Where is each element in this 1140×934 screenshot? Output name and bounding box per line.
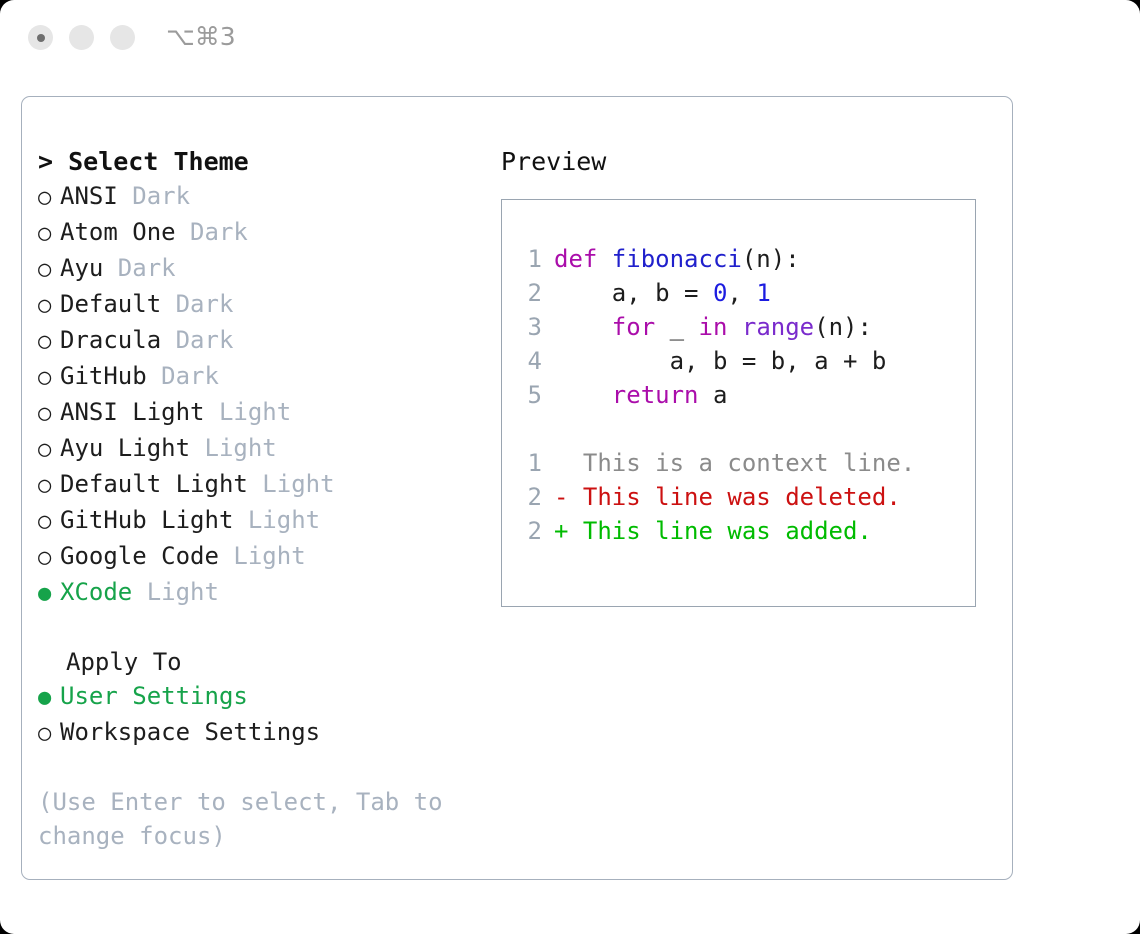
code-line: 2 a, b = 0, 1 <box>514 276 969 310</box>
theme-option-label: Ayu <box>60 254 103 282</box>
theme-option-ayu-light[interactable]: ○Ayu Light Light <box>38 431 498 467</box>
code-token: (n): <box>742 245 800 273</box>
theme-option-dracula[interactable]: ○Dracula Dark <box>38 323 498 359</box>
radio-unselected-icon: ○ <box>38 361 60 395</box>
theme-option-default-light[interactable]: ○Default Light Light <box>38 467 498 503</box>
apply-to-option-label: User Settings <box>60 682 248 710</box>
radio-unselected-icon: ○ <box>38 289 60 323</box>
preview-box: 1def fibonacci(n):2 a, b = 0, 13 for _ i… <box>501 199 976 607</box>
keyboard-hint-text: (Use Enter to select, Tab to change focu… <box>38 785 448 853</box>
code-token <box>554 313 612 341</box>
theme-variant-tag: Dark <box>118 182 190 210</box>
theme-option-label: Default <box>60 290 161 318</box>
code-token: return <box>612 381 699 409</box>
window-close-button[interactable] <box>28 25 53 50</box>
code-token: (n): <box>814 313 872 341</box>
code-token: in <box>699 313 728 341</box>
radio-unselected-icon: ○ <box>38 433 60 467</box>
code-line: 3 for _ in range(n): <box>514 310 969 344</box>
diff-line-text: This is a context line. <box>554 449 915 477</box>
theme-variant-tag: Dark <box>176 218 248 246</box>
theme-option-label: ANSI <box>60 182 118 210</box>
diff-line: 2+ This line was added. <box>514 514 969 548</box>
radio-unselected-icon: ○ <box>38 253 60 287</box>
line-number: 5 <box>514 378 542 412</box>
code-token: a <box>699 381 728 409</box>
code-token <box>727 313 741 341</box>
section-spacer <box>38 611 498 645</box>
radio-unselected-icon: ○ <box>38 397 60 431</box>
theme-option-label: Ayu Light <box>60 434 190 462</box>
code-token: def <box>554 245 612 273</box>
theme-option-ansi-light[interactable]: ○ANSI Light Light <box>38 395 498 431</box>
theme-option-google-code[interactable]: ○Google Code Light <box>38 539 498 575</box>
theme-option-label: Atom One <box>60 218 176 246</box>
window-minimize-button[interactable] <box>69 25 94 50</box>
code-token: fibonacci <box>612 245 742 273</box>
radio-unselected-icon: ○ <box>38 717 60 751</box>
apply-to-heading: Apply To <box>38 645 498 679</box>
theme-option-github-light[interactable]: ○GitHub Light Light <box>38 503 498 539</box>
apply-to-option-list: ●User Settings○Workspace Settings <box>38 679 498 751</box>
code-token <box>554 381 612 409</box>
theme-selection-column: > Select Theme ○ANSI Dark○Atom One Dark○… <box>38 145 498 853</box>
theme-option-default[interactable]: ○Default Dark <box>38 287 498 323</box>
code-line: 4 a, b = b, a + b <box>514 344 969 378</box>
code-token: 0 <box>713 279 727 307</box>
theme-variant-tag: Light <box>132 578 219 606</box>
theme-variant-tag: Light <box>205 398 292 426</box>
code-token: for <box>612 313 655 341</box>
line-number: 2 <box>514 276 542 310</box>
theme-variant-tag: Dark <box>103 254 175 282</box>
main-panel: > Select Theme ○ANSI Dark○Atom One Dark○… <box>21 96 1013 880</box>
theme-option-label: XCode <box>60 578 132 606</box>
apply-to-option-workspace-settings[interactable]: ○Workspace Settings <box>38 715 498 751</box>
traffic-lights <box>28 25 135 50</box>
theme-option-xcode[interactable]: ●XCode Light <box>38 575 498 611</box>
radio-unselected-icon: ○ <box>38 181 60 215</box>
diff-line-number: 2 <box>514 480 542 514</box>
theme-option-label: Dracula <box>60 326 161 354</box>
theme-option-list: ○ANSI Dark○Atom One Dark○Ayu Dark○Defaul… <box>38 179 498 611</box>
preview-heading: Preview <box>501 145 1001 179</box>
theme-option-label: Google Code <box>60 542 219 570</box>
select-theme-heading: > Select Theme <box>38 145 498 179</box>
diff-line-number: 2 <box>514 514 542 548</box>
theme-variant-tag: Light <box>219 542 306 570</box>
radio-unselected-icon: ○ <box>38 325 60 359</box>
theme-variant-tag: Light <box>248 470 335 498</box>
code-sample: 1def fibonacci(n):2 a, b = 0, 13 for _ i… <box>514 242 969 548</box>
active-indicator-dot <box>37 34 45 42</box>
code-block: 1def fibonacci(n):2 a, b = 0, 13 for _ i… <box>514 242 969 412</box>
diff-block: 1 This is a context line.2- This line wa… <box>514 446 969 548</box>
line-number: 4 <box>514 344 542 378</box>
code-token: _ <box>655 313 698 341</box>
code-line: 5 return a <box>514 378 969 412</box>
code-token: a, b = <box>554 279 713 307</box>
code-line: 1def fibonacci(n): <box>514 242 969 276</box>
title-bar: ⌥⌘3 <box>0 0 1140 78</box>
radio-unselected-icon: ○ <box>38 469 60 503</box>
radio-unselected-icon: ○ <box>38 217 60 251</box>
line-number: 3 <box>514 310 542 344</box>
diff-line: 2- This line was deleted. <box>514 480 969 514</box>
window-title: ⌥⌘3 <box>166 22 236 51</box>
theme-option-github[interactable]: ○GitHub Dark <box>38 359 498 395</box>
code-token: range <box>742 313 814 341</box>
diff-line-text: - This line was deleted. <box>554 483 901 511</box>
theme-option-label: Default Light <box>60 470 248 498</box>
preview-column: Preview 1def fibonacci(n):2 a, b = 0, 13… <box>501 145 1001 607</box>
radio-selected-icon: ● <box>38 681 60 715</box>
diff-line-text: + This line was added. <box>554 517 872 545</box>
theme-option-label: GitHub <box>60 362 147 390</box>
code-token: 1 <box>756 279 770 307</box>
apply-to-option-label: Workspace Settings <box>60 718 320 746</box>
theme-option-ansi[interactable]: ○ANSI Dark <box>38 179 498 215</box>
code-token: a, b = b, a + b <box>554 347 886 375</box>
diff-line-number: 1 <box>514 446 542 480</box>
code-diff-spacer <box>514 412 969 446</box>
window-maximize-button[interactable] <box>110 25 135 50</box>
radio-unselected-icon: ○ <box>38 505 60 539</box>
theme-variant-tag: Light <box>190 434 277 462</box>
hint-spacer <box>38 751 498 785</box>
code-token: , <box>727 279 756 307</box>
theme-variant-tag: Dark <box>147 362 219 390</box>
theme-option-label: ANSI Light <box>60 398 205 426</box>
apply-to-option-user-settings[interactable]: ●User Settings <box>38 679 498 715</box>
theme-option-ayu[interactable]: ○Ayu Dark <box>38 251 498 287</box>
app-window: ⌥⌘3 > Select Theme ○ANSI Dark○Atom One D… <box>0 0 1140 934</box>
radio-unselected-icon: ○ <box>38 541 60 575</box>
line-number: 1 <box>514 242 542 276</box>
theme-variant-tag: Dark <box>161 290 233 318</box>
theme-option-atom-one[interactable]: ○Atom One Dark <box>38 215 498 251</box>
theme-variant-tag: Dark <box>161 326 233 354</box>
radio-selected-icon: ● <box>38 577 60 611</box>
diff-line: 1 This is a context line. <box>514 446 969 480</box>
theme-option-label: GitHub Light <box>60 506 233 534</box>
theme-variant-tag: Light <box>233 506 320 534</box>
